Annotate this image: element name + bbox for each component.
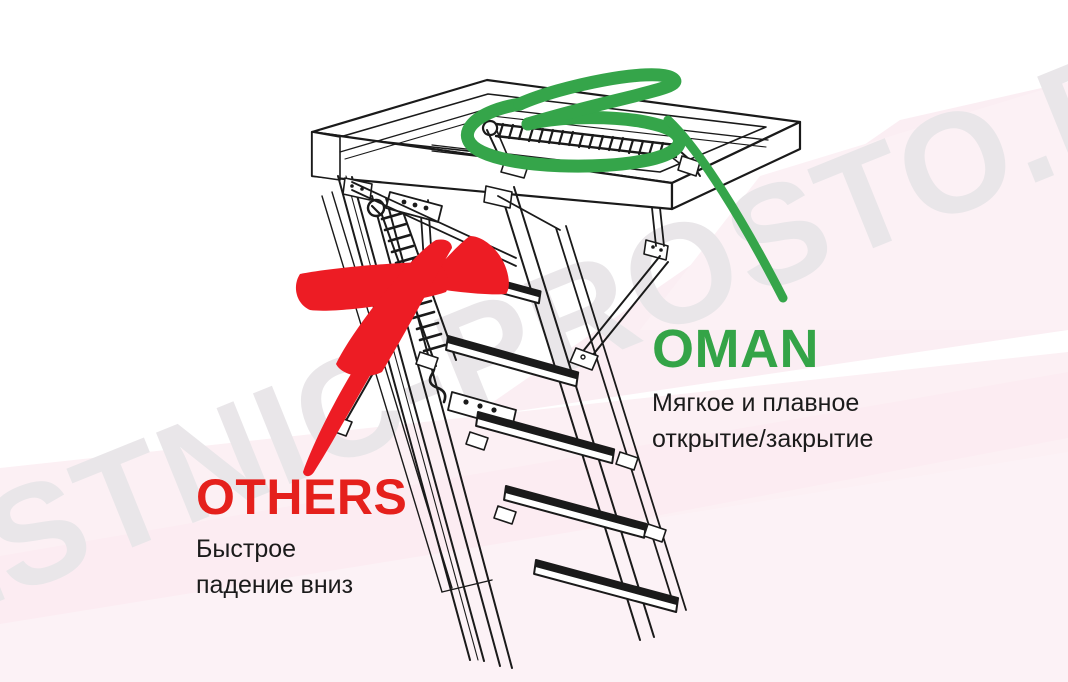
others-description: Быстрое падение вниз xyxy=(196,532,516,603)
oman-description: Мягкое и плавное открытие/закрытие xyxy=(652,386,982,457)
callout-oman: OMAN Мягкое и плавное открытие/закрытие xyxy=(652,322,982,457)
oman-line-2: открытие/закрытие xyxy=(652,422,982,458)
others-line-1: Быстрое xyxy=(196,532,516,568)
others-line-2: падение вниз xyxy=(196,568,516,604)
others-title: OTHERS xyxy=(196,472,516,522)
oman-title: OMAN xyxy=(652,322,982,376)
poster-canvas: LESTNIC-PROSTO.RU xyxy=(0,0,1068,682)
red-arrow xyxy=(296,236,509,476)
callout-others: OTHERS Быстрое падение вниз xyxy=(196,472,516,603)
oman-line-1: Мягкое и плавное xyxy=(652,386,982,422)
